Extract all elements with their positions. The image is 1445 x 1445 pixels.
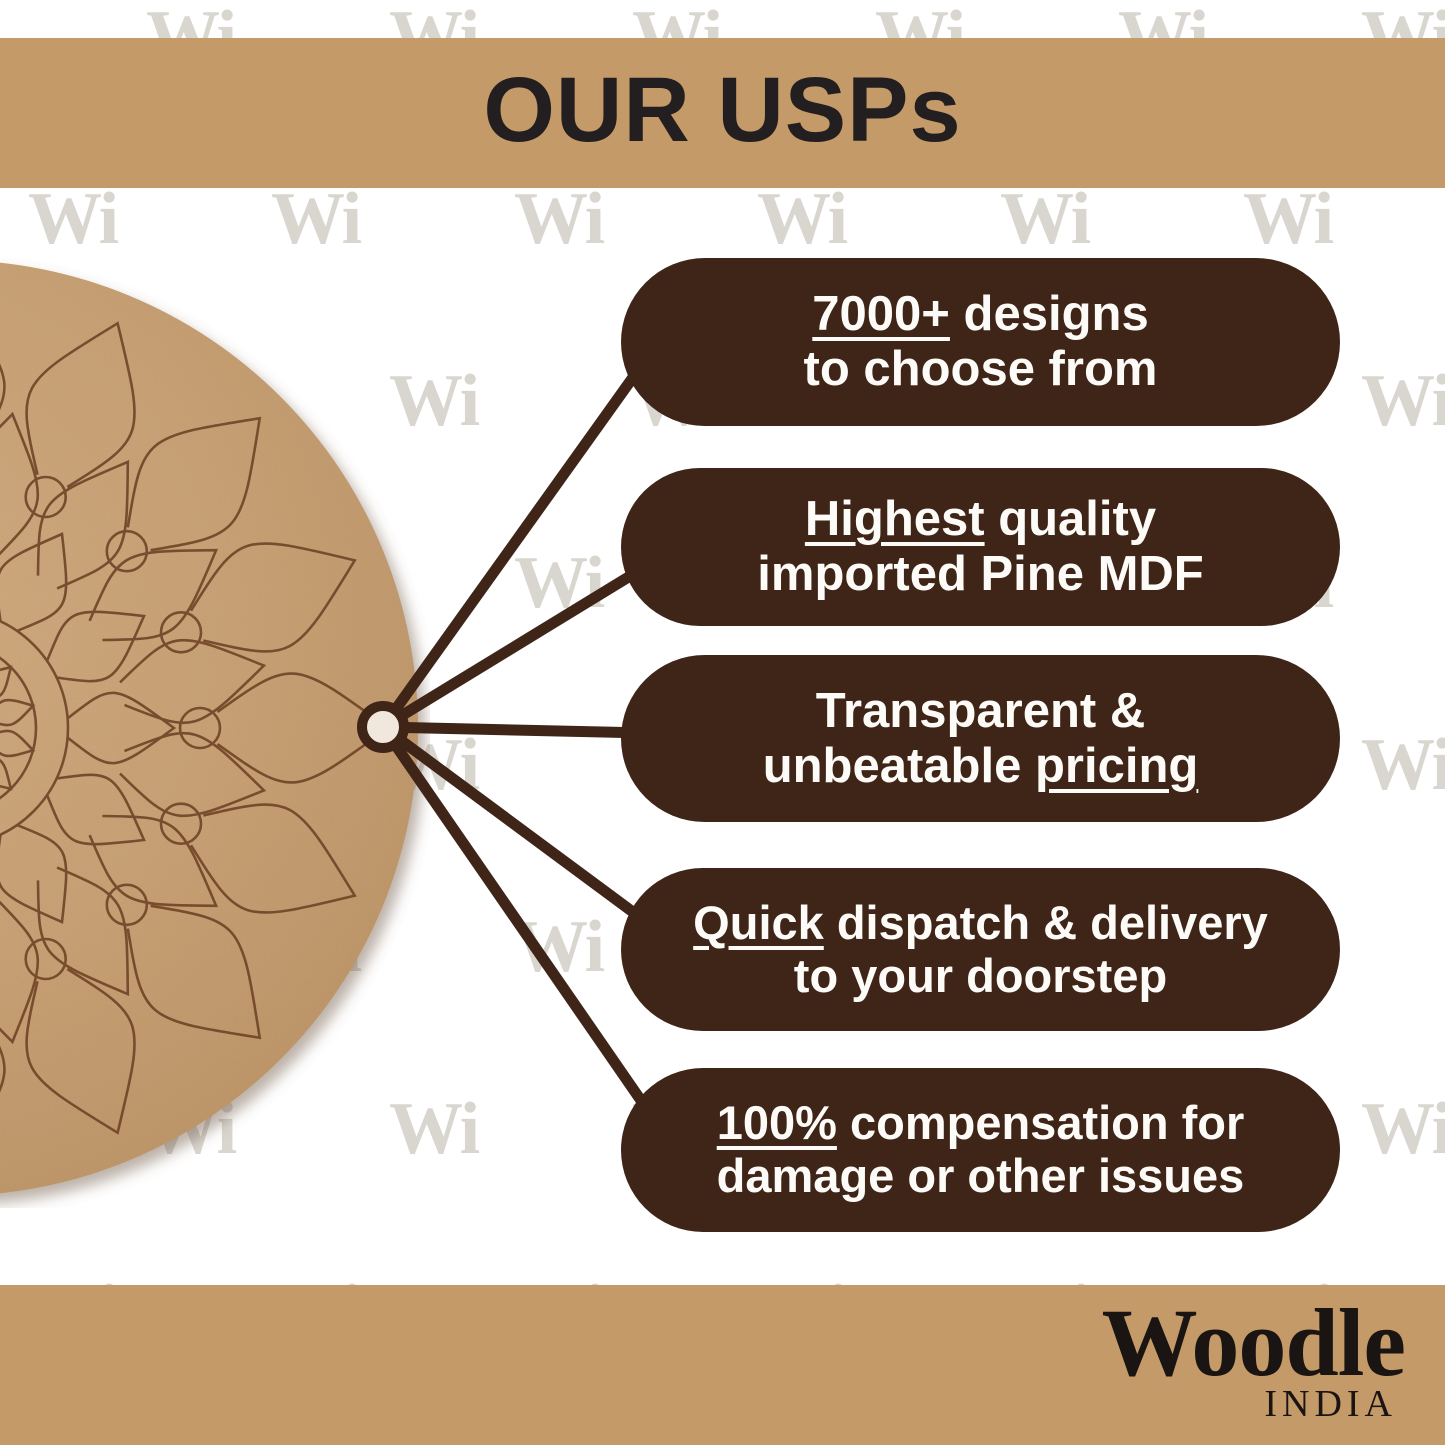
usp-text: designs [950,287,1149,341]
usp-line-1: Highest quality [805,492,1156,547]
usp-line-1: 7000+ designs [812,287,1148,342]
usp-line-2: damage or other issues [717,1150,1245,1203]
header-band: OUR USPs [0,38,1445,188]
usp-line-1: 100% compensation for [717,1097,1245,1150]
usp-highlight: Highest [805,492,985,546]
brand-logo[interactable]: Woodle INDIA [1102,1295,1405,1423]
usp-highlight: 7000+ [812,287,950,341]
usp-list: 7000+ designs to choose from Highest qua… [0,0,1445,1445]
usp-text: damage or other issues [717,1149,1245,1202]
usp-text: to your doorstep [794,949,1167,1002]
usp-line-1: Transparent & [816,684,1145,739]
usp-line-1: Quick dispatch & delivery [693,897,1268,950]
usp-card-compensation[interactable]: 100% compensation for damage or other is… [621,1068,1340,1232]
usp-text: unbeatable [763,739,1035,793]
usp-text: Transparent & [816,684,1145,738]
usp-card-pricing[interactable]: Transparent & unbeatable pricing [621,655,1340,822]
usp-card-dispatch[interactable]: Quick dispatch & delivery to your doorst… [621,868,1340,1031]
usp-text: imported Pine MDF [757,547,1203,601]
usp-text: quality [985,492,1157,546]
brand-logo-wordmark: Woodle [1102,1295,1405,1391]
page-title: OUR USPs [483,64,961,156]
usp-text: dispatch & delivery [824,896,1268,949]
diagram-hub-node [357,701,409,753]
usp-line-2: to your doorstep [794,950,1167,1003]
usp-highlight: 100% [717,1096,837,1149]
usp-text: to choose from [804,342,1158,396]
usp-line-2: to choose from [804,342,1158,397]
usp-card-quality[interactable]: Highest quality imported Pine MDF [621,468,1340,626]
usp-line-2: imported Pine MDF [757,547,1203,602]
usp-highlight: pricing [1035,739,1198,793]
usp-highlight: Quick [693,896,824,949]
usp-line-2: unbeatable pricing [763,739,1199,794]
infographic-canvas: WiWiWiWiWiWiWiWiWiWiWiWiWiWiWiWiWiWiWiWi… [0,0,1445,1445]
usp-text: compensation for [837,1096,1244,1149]
usp-card-designs[interactable]: 7000+ designs to choose from [621,258,1340,426]
